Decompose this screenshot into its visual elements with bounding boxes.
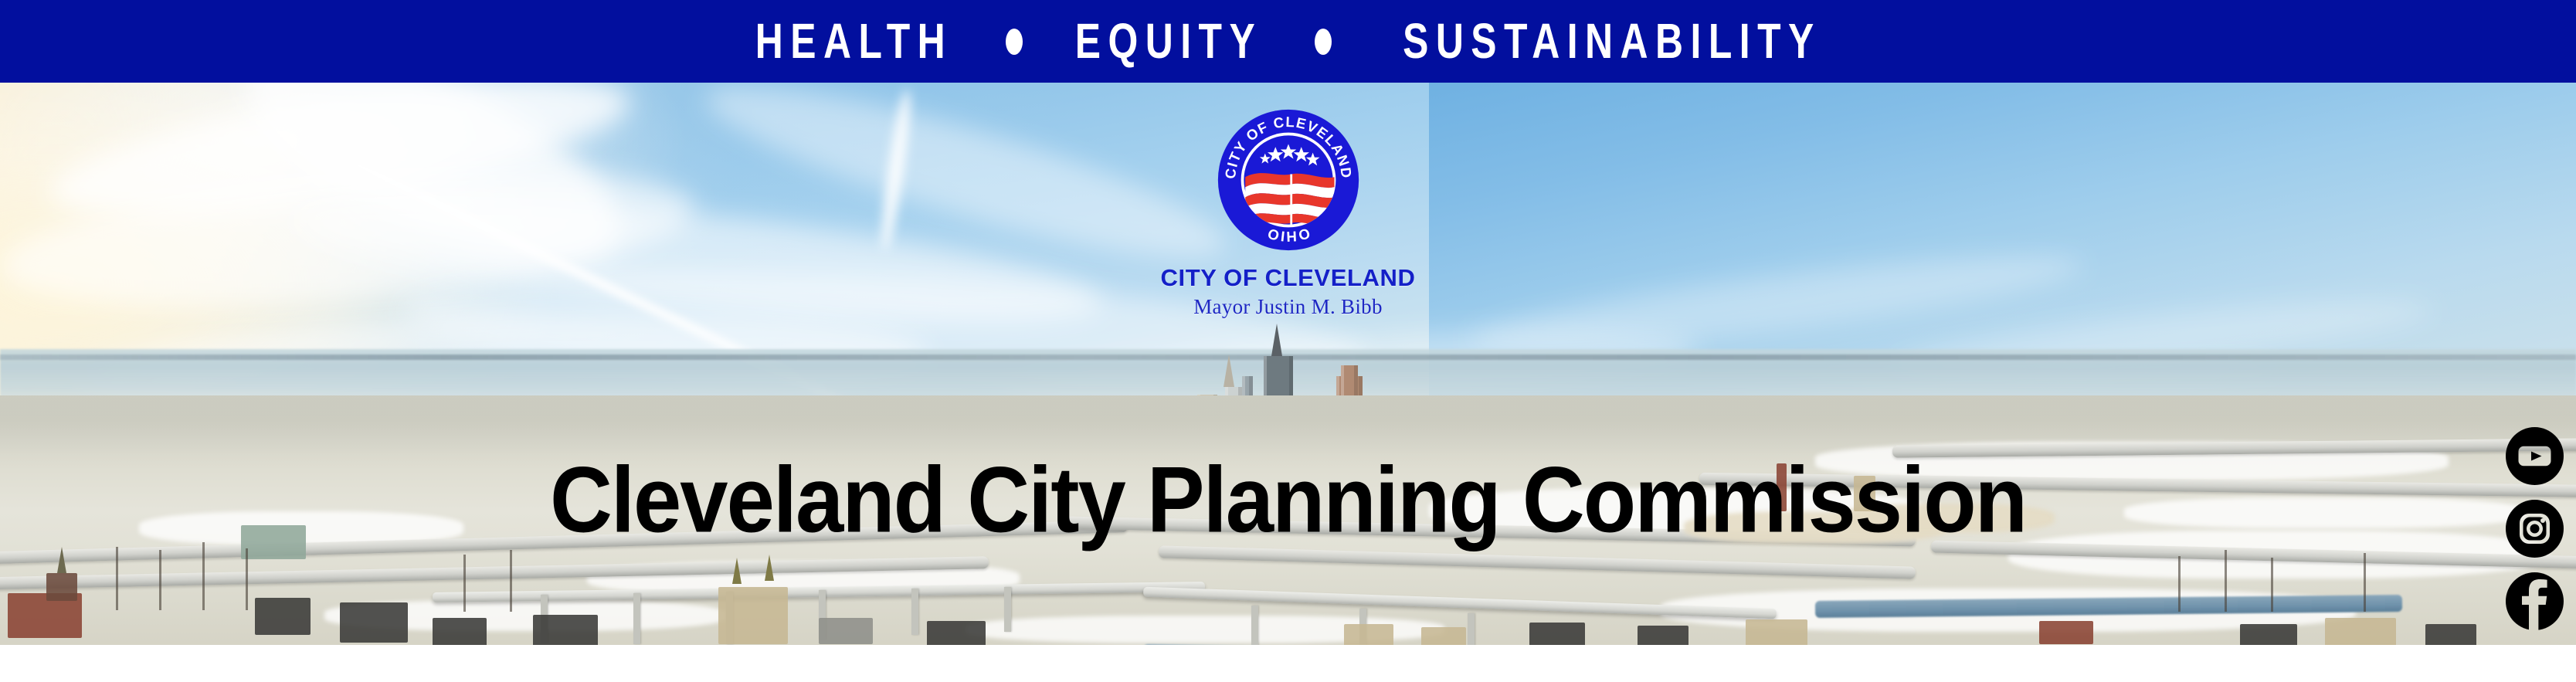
tagline-banner: HEALTH EQUITY SUSTAINABILITY	[0, 0, 2576, 83]
social-media-rail	[2504, 427, 2564, 630]
tagline-separator-dot-1	[1006, 29, 1023, 55]
seal-subtitle-mayor: Mayor Justin M. Bibb	[0, 295, 2576, 319]
tagline-word-sustainability: SUSTAINABILITY	[1403, 17, 1821, 66]
facebook-icon[interactable]	[2506, 572, 2564, 630]
youtube-icon[interactable]	[2506, 427, 2564, 485]
instagram-icon[interactable]	[2506, 500, 2564, 558]
tagline-inner: HEALTH EQUITY SUSTAINABILITY	[739, 19, 1855, 64]
seal-title: CITY OF CLEVELAND	[0, 264, 2576, 292]
tagline-word-equity: EQUITY	[1075, 17, 1262, 66]
tagline-separator-dot-2	[1315, 29, 1332, 55]
tagline-word-health: HEALTH	[755, 17, 952, 66]
city-of-cleveland-seal-icon: CITY OF CLEVELAND OHIO	[1217, 108, 1360, 252]
city-seal-lockup: CITY OF CLEVELAND OHIO CITY OF CLEV	[0, 108, 2576, 319]
hero-photo: CITY OF CLEVELAND OHIO CITY OF CLEV	[0, 83, 2576, 645]
page-title: Cleveland City Planning Commission	[0, 453, 2576, 547]
